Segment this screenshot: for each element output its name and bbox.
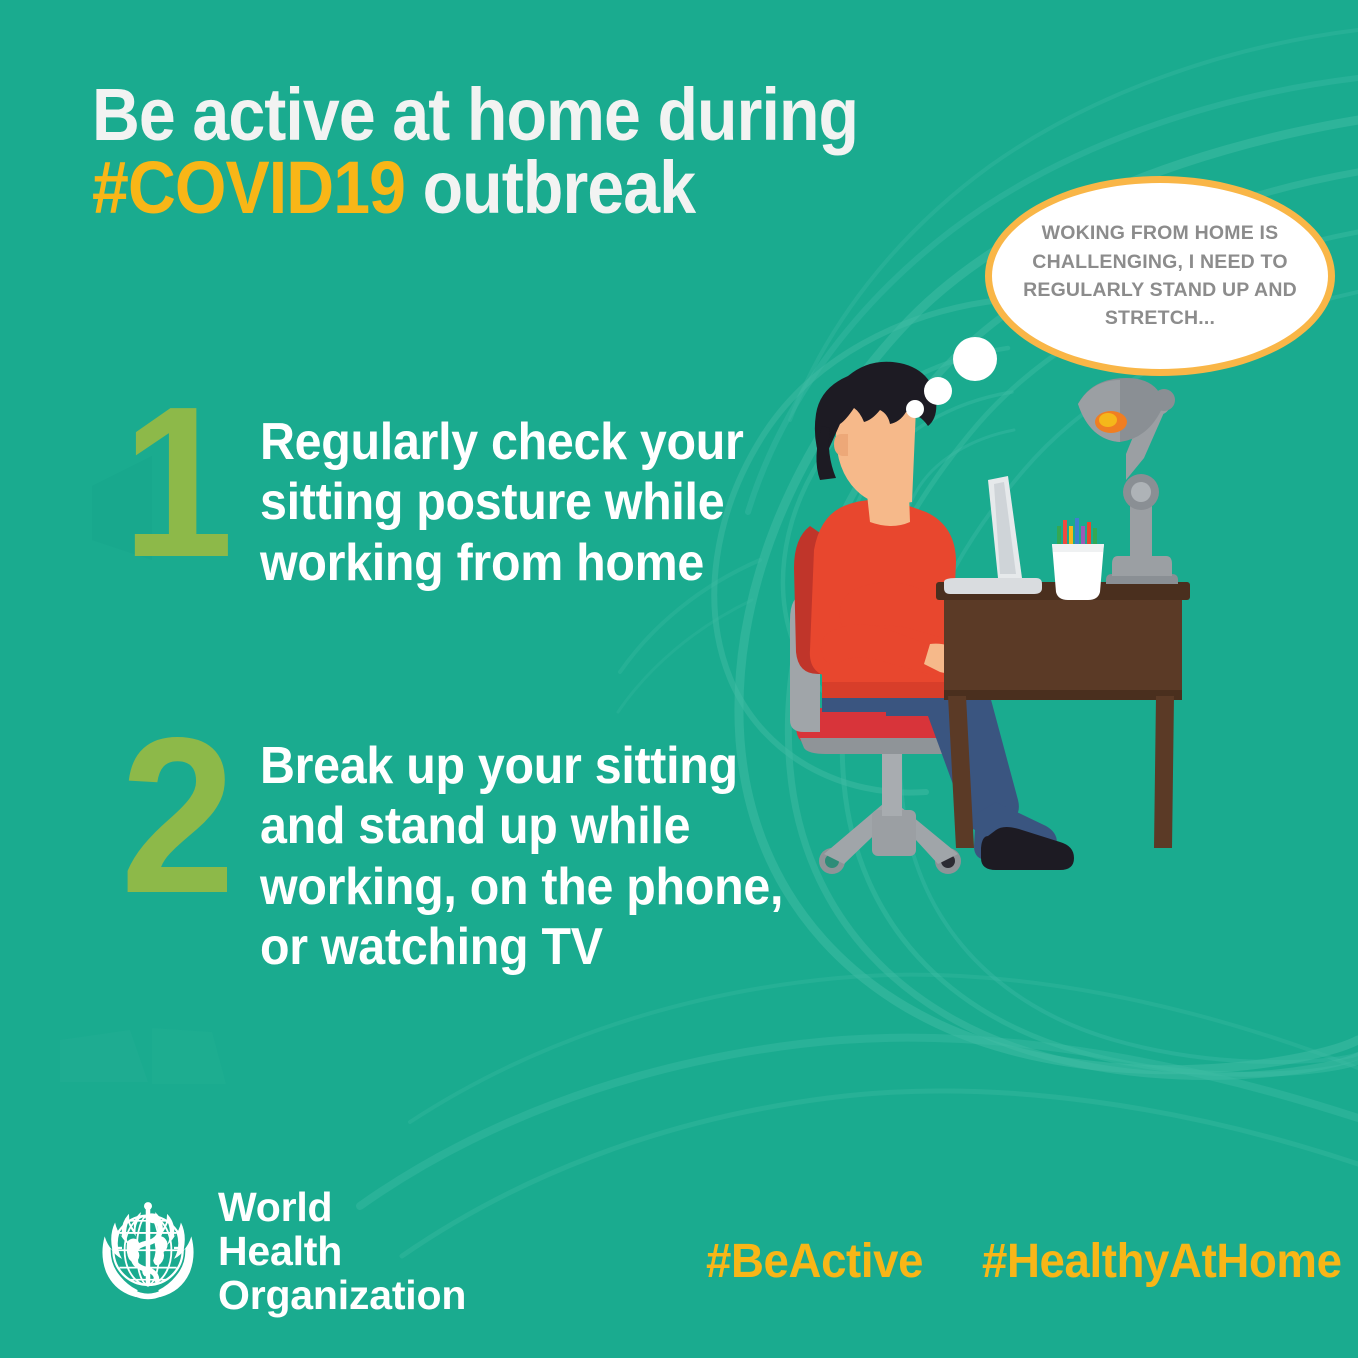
- thought-bubble-dot-large: [953, 337, 997, 381]
- tip-item-1: 1 Regularly check your sitting posture w…: [92, 398, 780, 593]
- tip-1-number: 1: [98, 398, 254, 566]
- pencil-cup-icon: [1052, 518, 1104, 600]
- who-wordmark: World Health Organization: [218, 1186, 466, 1318]
- who-wordmark-line-1: World Health: [218, 1186, 466, 1274]
- tip-1-line-1: Regularly check your: [260, 412, 744, 472]
- person-head: [815, 362, 936, 526]
- tip-item-2: 2 Break up your sitting and stand up whi…: [92, 730, 822, 977]
- who-infographic-poster: Be active at home during #COVID19 outbre…: [0, 0, 1358, 1358]
- hashtag-beactive[interactable]: #BeActive: [706, 1234, 923, 1289]
- thought-bubble: WOKING FROM HOME IS CHALLENGING, I NEED …: [985, 176, 1335, 376]
- tip-2-line-3: working, on the phone,: [260, 857, 783, 917]
- thought-bubble-dot-medium: [924, 377, 952, 405]
- laptop-icon: [944, 476, 1042, 594]
- thought-bubble-text: WOKING FROM HOME IS CHALLENGING, I NEED …: [1010, 219, 1310, 332]
- tip-1-line-2: sitting posture while: [260, 472, 744, 532]
- page-title: Be active at home during #COVID19 outbre…: [92, 78, 992, 225]
- headline-line-1: Be active at home during: [92, 78, 898, 151]
- tip-1-text: Regularly check your sitting posture whi…: [260, 398, 744, 593]
- person-working-at-desk-illustration: [760, 330, 1190, 890]
- headline-line-2: #COVID19 outbreak: [92, 151, 898, 224]
- who-wordmark-line-2: Organization: [218, 1274, 466, 1318]
- watermark-shape-lower2: [152, 1028, 226, 1084]
- tip-2-line-1: Break up your sitting: [260, 736, 783, 796]
- headline-hashtag-covid19: #COVID19: [92, 146, 405, 229]
- tip-2-text: Break up your sitting and stand up while…: [260, 730, 783, 977]
- watermark-shape-lower: [60, 1030, 148, 1082]
- hashtag-healthyathome[interactable]: #HealthyAtHome: [982, 1234, 1342, 1289]
- who-emblem-icon: [96, 1200, 200, 1304]
- tip-2-number: 2: [98, 730, 254, 903]
- thought-bubble-dot-small: [906, 400, 924, 418]
- headline-outbreak-word: outbreak: [405, 146, 695, 229]
- tip-2-line-2: and stand up while: [260, 796, 783, 856]
- tip-1-line-3: working from home: [260, 533, 744, 593]
- tip-2-line-4: or watching TV: [260, 917, 783, 977]
- who-logo: World Health Organization: [96, 1196, 446, 1308]
